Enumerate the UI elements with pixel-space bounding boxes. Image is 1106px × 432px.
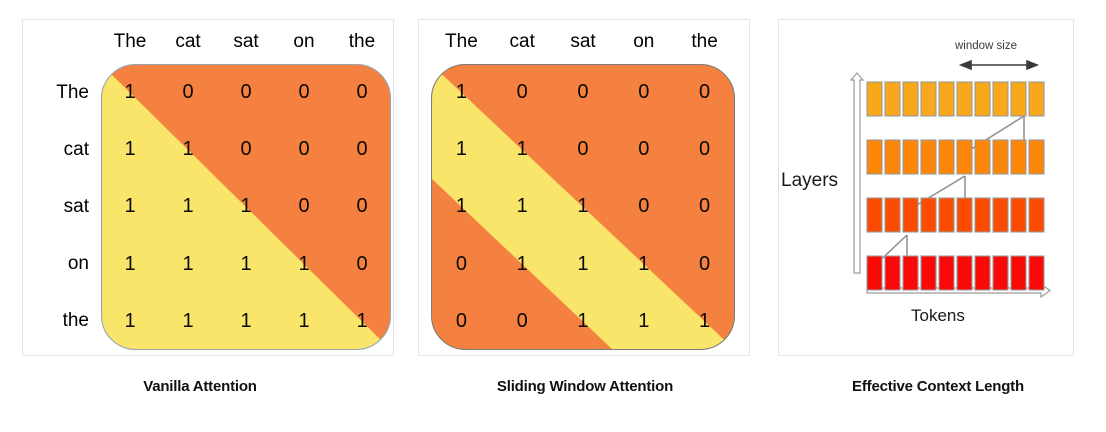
- vanilla-plot-area: The cat sat on the The cat sat on the: [22, 19, 394, 356]
- row-header-0: The: [23, 64, 89, 121]
- panel-effective-context-length: window size Layers Tokens Effective Cont…: [770, 0, 1106, 432]
- column-header-3: on: [613, 31, 674, 53]
- column-header-3: on: [275, 31, 333, 53]
- column-header-0: The: [101, 31, 159, 53]
- row-header-4: the: [23, 293, 89, 350]
- attention-figure: The cat sat on the The cat sat on the: [0, 0, 1106, 432]
- receptive-field-lines: [871, 116, 1024, 269]
- layers-axis-label: Layers: [781, 170, 838, 192]
- column-header-1: cat: [492, 31, 553, 53]
- context-plot-area: window size Layers Tokens: [778, 19, 1074, 356]
- sliding-mask-svg: [431, 64, 735, 350]
- row-header-3: on: [23, 236, 89, 293]
- column-header-4: the: [674, 31, 735, 53]
- column-header-4: the: [333, 31, 391, 53]
- column-header-0: The: [431, 31, 492, 53]
- column-header-1: cat: [159, 31, 217, 53]
- row-header-1: cat: [23, 121, 89, 178]
- column-header-2: sat: [217, 31, 275, 53]
- sliding-plot-area: The cat sat on the: [418, 19, 750, 356]
- window-size-arrow-icon: [961, 61, 1037, 69]
- column-header-2: sat: [553, 31, 614, 53]
- window-size-label: window size: [955, 40, 1017, 52]
- sliding-column-headers: The cat sat on the: [431, 24, 735, 60]
- tokens-axis-label: Tokens: [911, 306, 965, 326]
- vanilla-column-headers: The cat sat on the: [101, 24, 391, 60]
- sliding-mask: 1 0 0 0 0 1 1 0 0 0 1 1 1 0 0 0 1: [431, 64, 735, 350]
- layers-axis-arrow-icon: [851, 73, 863, 273]
- panel-vanilla-attention: The cat sat on the The cat sat on the: [0, 0, 400, 432]
- layer-row-3: [867, 198, 1044, 232]
- layer-row-4: [867, 256, 1044, 290]
- caption-vanilla-attention: Vanilla Attention: [0, 378, 400, 395]
- vanilla-mask-svg: [101, 64, 391, 350]
- layer-row-2: [867, 140, 1044, 174]
- row-header-2: sat: [23, 178, 89, 235]
- vanilla-row-headers: The cat sat on the: [23, 64, 89, 350]
- caption-sliding-window-attention: Sliding Window Attention: [400, 378, 770, 395]
- vanilla-mask: 1 0 0 0 0 1 1 0 0 0 1 1 1 0 0 1 1: [101, 64, 391, 350]
- caption-effective-context-length: Effective Context Length: [770, 378, 1106, 395]
- layer-row-1: [867, 82, 1044, 116]
- panel-sliding-window-attention: The cat sat on the: [400, 0, 770, 432]
